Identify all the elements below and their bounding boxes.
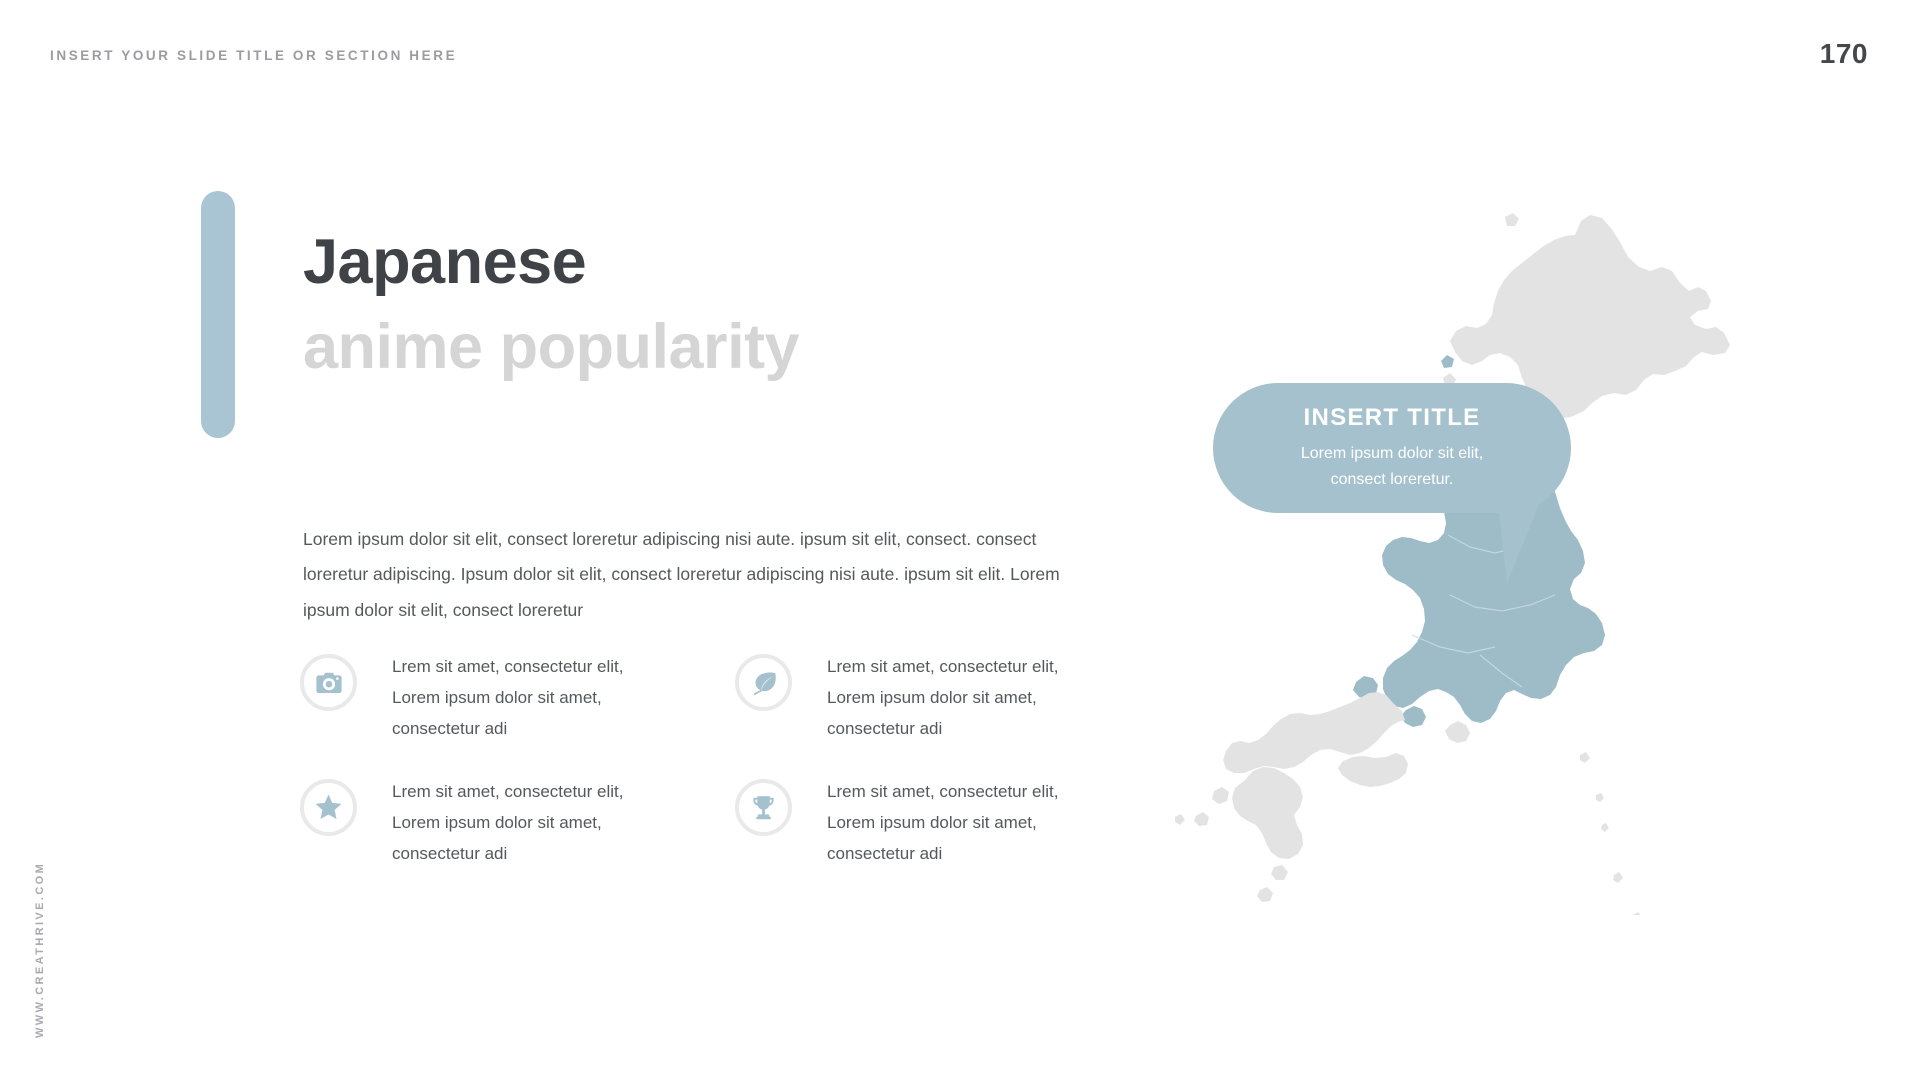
title-line-primary: Japanese <box>303 231 799 294</box>
leaf-icon <box>735 654 792 711</box>
feature-text: Lrem sit amet, consectetur elit, Lorem i… <box>827 777 1077 870</box>
page-title: Japanese anime popularity <box>303 231 799 379</box>
feature-item[interactable]: Lrem sit amet, consectetur elit, Lorem i… <box>300 777 735 870</box>
callout-line-1: Lorem ipsum dolor sit elit, <box>1301 445 1483 462</box>
camera-icon <box>300 654 357 711</box>
body-paragraph: Lorem ipsum dolor sit elit, consect lore… <box>303 522 1093 628</box>
site-url-vertical: WWW.CREATHRIVE.COM <box>34 862 46 1038</box>
feature-text: Lrem sit amet, consectetur elit, Lorem i… <box>392 652 642 745</box>
feature-item[interactable]: Lrem sit amet, consectetur elit, Lorem i… <box>735 652 1170 745</box>
trophy-icon <box>735 779 792 836</box>
japan-map[interactable] <box>1150 195 1810 915</box>
callout-body: Lorem ipsum dolor sit elit, consect lore… <box>1301 441 1483 493</box>
feature-item[interactable]: Lrem sit amet, consectetur elit, Lorem i… <box>300 652 735 745</box>
callout-line-2: consect loreretur. <box>1331 471 1454 488</box>
feature-text: Lrem sit amet, consectetur elit, Lorem i… <box>392 777 642 870</box>
map-region-shikoku <box>1338 753 1408 787</box>
feature-item[interactable]: Lrem sit amet, consectetur elit, Lorem i… <box>735 777 1170 870</box>
map-region-kyushu <box>1194 767 1303 902</box>
feature-text: Lrem sit amet, consectetur elit, Lorem i… <box>827 652 1077 745</box>
title-line-secondary: anime popularity <box>303 316 799 379</box>
slide-header-title: INSERT YOUR SLIDE TITLE OR SECTION HERE <box>50 48 457 63</box>
map-islands-minor <box>1175 752 1658 915</box>
page-number: 170 <box>1820 38 1868 70</box>
map-callout[interactable]: INSERT TITLE Lorem ipsum dolor sit elit,… <box>1213 383 1571 513</box>
accent-bar <box>201 191 235 438</box>
feature-list: Lrem sit amet, consectetur elit, Lorem i… <box>300 652 1100 870</box>
slide-root: INSERT YOUR SLIDE TITLE OR SECTION HERE … <box>0 0 1920 1080</box>
star-icon <box>300 779 357 836</box>
callout-title: INSERT TITLE <box>1304 404 1481 432</box>
